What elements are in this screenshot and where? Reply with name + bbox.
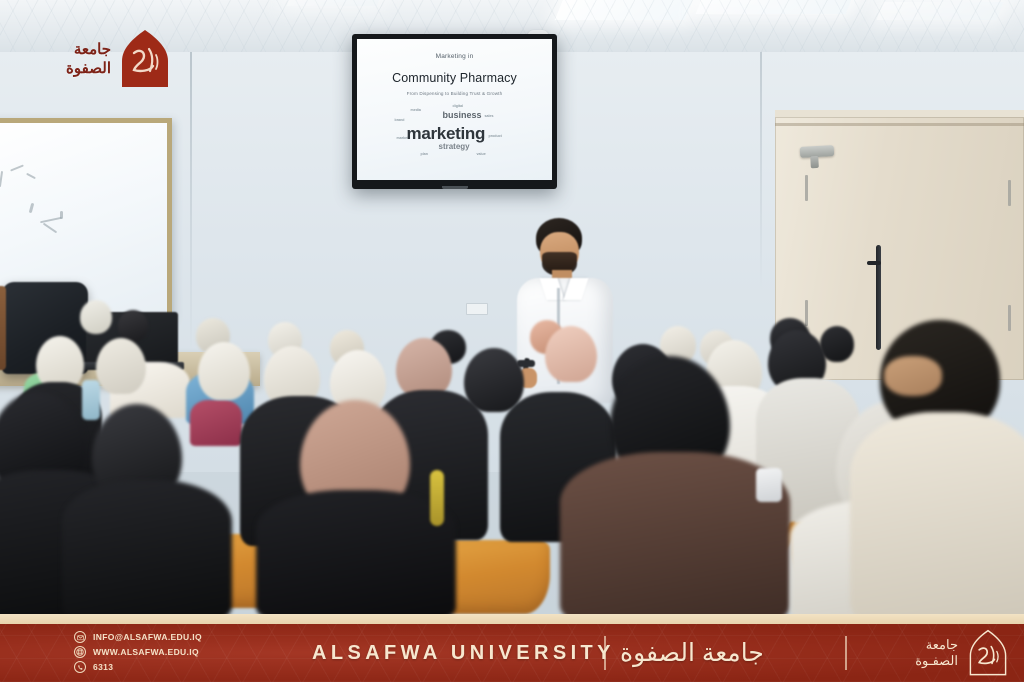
wordcloud-word: plan (421, 153, 428, 157)
footer-top-stripe (0, 614, 1024, 624)
ceiling-light-panel (287, 0, 383, 6)
screen-stand (442, 186, 468, 189)
door-header-rail (775, 123, 1024, 126)
footer-logo-text: جامعة الصفـوة (915, 637, 958, 670)
watermark-text: جامعة الصفوة (66, 40, 111, 79)
attendee-body (190, 400, 242, 446)
website-text: WWW.ALSAFWA.EDU.IQ (93, 647, 199, 657)
mobile-phone (756, 468, 782, 502)
lanyard (430, 470, 444, 526)
footer-logo: جامعة الصفـوة (862, 624, 1012, 682)
event-photograph: Marketing in Community Pharmacy From Dis… (0, 0, 1024, 614)
slide-wordcloud: brand market media sales product plan va… (391, 103, 519, 161)
ceiling-light-panel (555, 0, 696, 20)
attendee-face (884, 356, 942, 396)
footer-contact-list: INFO@ALSAFWA.EDU.IQ WWW.ALSAFWA.EDU.IQ 6… (74, 626, 304, 678)
screenshot-root: Marketing in Community Pharmacy From Dis… (0, 0, 1024, 682)
wordcloud-word-tertiary: strategy (439, 143, 470, 151)
attendee-body (850, 412, 1024, 614)
slide-title: Community Pharmacy (357, 71, 552, 85)
wordcloud-word-primary: marketing (407, 125, 486, 142)
attendee-body (62, 480, 232, 614)
watermark-line-1: جامعة (66, 40, 111, 60)
attendee-head (198, 342, 250, 400)
footer-brand-arabic: جامعة الصفوة (620, 624, 764, 682)
slide-kicker: Marketing in (357, 53, 552, 60)
door-closer (800, 145, 835, 158)
wordcloud-word: digital (453, 105, 464, 109)
presentation-slide: Marketing in Community Pharmacy From Dis… (357, 39, 552, 180)
wall-seam (760, 52, 762, 292)
water-bottle (82, 380, 100, 420)
contact-row-phone[interactable]: 6313 (74, 661, 304, 673)
phone-icon (74, 661, 86, 673)
footer-logo-line-2: الصفـوة (915, 653, 958, 669)
door-handle (876, 245, 881, 350)
ceiling-light-panel (696, 0, 855, 14)
arch-emblem-icon (964, 629, 1012, 677)
slide-subtitle: From Dispensing to Building Trust & Grow… (357, 91, 552, 96)
wordcloud-word: product (489, 135, 502, 139)
wall-seam (190, 52, 192, 352)
footer-brand-english: ALSAFWA UNIVERSITY (312, 624, 615, 682)
footer-logo-line-1: جامعة (915, 637, 958, 653)
phone-text: 6313 (93, 662, 113, 672)
attendee-head (96, 338, 146, 394)
wordcloud-word-secondary: business (443, 111, 482, 120)
footer-divider (845, 636, 847, 670)
alsafwa-watermark-logo: جامعة الصفوة (22, 26, 172, 92)
attendee-head (396, 338, 452, 398)
wordcloud-word: value (477, 153, 486, 157)
attendee-head (545, 326, 597, 382)
watermark-line-2: الصفوة (66, 59, 111, 79)
email-text: INFO@ALSAFWA.EDU.IQ (93, 632, 202, 642)
arch-emblem-icon (118, 29, 172, 89)
attendee-head (80, 300, 112, 334)
light-switch-plate (466, 303, 488, 315)
globe-icon (74, 646, 86, 658)
contact-row-email[interactable]: INFO@ALSAFWA.EDU.IQ (74, 631, 304, 643)
email-icon (74, 631, 86, 643)
attendee-body (256, 490, 456, 614)
wordcloud-word: media (411, 109, 421, 113)
wordcloud-word: brand (395, 119, 405, 123)
ceiling-light-panel (876, 2, 1003, 20)
contact-row-website[interactable]: WWW.ALSAFWA.EDU.IQ (74, 646, 304, 658)
wordcloud-word: sales (485, 115, 494, 119)
presentation-screen: Marketing in Community Pharmacy From Dis… (352, 34, 557, 189)
footer-divider (604, 636, 606, 670)
